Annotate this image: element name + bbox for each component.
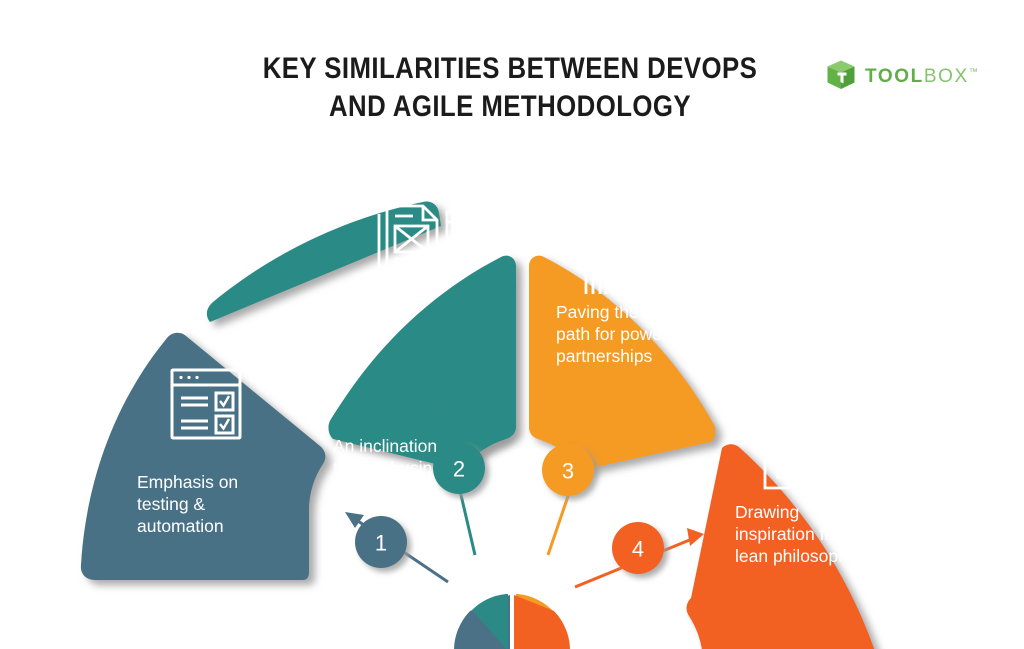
number-badge-3[interactable]: 3 xyxy=(542,444,594,496)
segment-4-label: Drawing inspiration from lean philosophi… xyxy=(735,502,870,566)
diagram-canvas: Emphasis on testing & automation An in xyxy=(0,140,1024,649)
arrow-head-4 xyxy=(687,528,704,546)
brand-word-secondary: BOX xyxy=(924,66,969,87)
center-hub-semicircle xyxy=(454,594,570,649)
podium-speaker-icon xyxy=(756,384,832,488)
segment-4[interactable]: Drawing inspiration from lean philosophi… xyxy=(687,384,878,649)
page-title-line-2: AND AGILE METHODOLOGY xyxy=(226,88,794,126)
number-badge-3-label: 3 xyxy=(562,459,574,484)
number-badge-1[interactable]: 1 xyxy=(355,516,407,568)
header: KEY SIMILARITIES BETWEEN DEVOPS AND AGIL… xyxy=(0,0,1024,150)
number-badge-1-label: 1 xyxy=(375,531,387,556)
toolbox-cube-icon xyxy=(826,60,856,91)
trademark-symbol: ™ xyxy=(969,66,980,76)
brand-wordmark: TOOLBOX™ xyxy=(865,67,979,86)
page-title: KEY SIMILARITIES BETWEEN DEVOPS AND AGIL… xyxy=(226,50,794,126)
segment-3[interactable]: Paving the path for powerful partnership… xyxy=(529,199,715,470)
segment-1[interactable]: Emphasis on testing & automation xyxy=(81,333,326,580)
number-badge-4[interactable]: 4 xyxy=(612,522,664,574)
brand-logo: TOOLBOX™ xyxy=(826,58,979,92)
segment-3-label: Paving the path for powerful partnership… xyxy=(556,302,691,366)
team-people-icon xyxy=(583,199,665,294)
number-badge-2[interactable]: 2 xyxy=(433,442,485,494)
number-badge-4-label: 4 xyxy=(632,537,644,562)
number-badge-2-label: 2 xyxy=(453,457,465,482)
page-title-line-1: KEY SIMILARITIES BETWEEN DEVOPS xyxy=(226,50,794,88)
brand-word-primary: TOOL xyxy=(865,66,924,87)
radial-fan-diagram: Emphasis on testing & automation An in xyxy=(0,140,1024,649)
